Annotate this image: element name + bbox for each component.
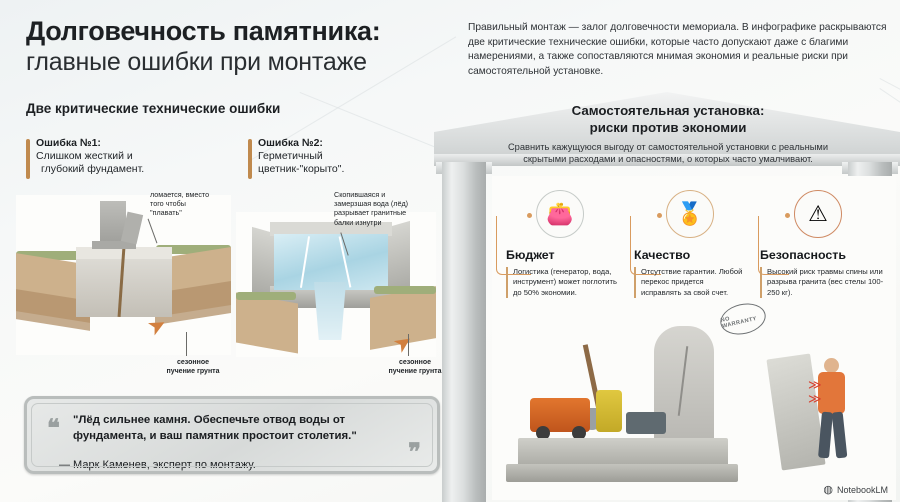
worker-figure-legs [818,412,833,459]
error-2-caption-leader [408,334,409,356]
grass-layer-right [374,286,436,294]
injury-warning-icon: ⚠ [794,190,842,238]
error-1-caption-leader [186,332,187,356]
infographic-page: Долговечность памятника: главные ошибки … [0,0,900,502]
connector-dot-budget [527,213,532,218]
panel-heading-line2: риски против экономии [494,120,842,137]
section-heading-errors: Две критические технические ошибки [26,101,280,116]
footer-brand-label: NotebookLM [837,485,888,495]
quote-author: — Марк Каменев, эксперт по монтажу. [59,459,256,471]
broken-award-icon: 🏅 [666,190,714,238]
page-title-line1: Долговечность памятника: [26,16,380,47]
intro-paragraph: Правильный монтаж — залог долговечности … [468,21,888,79]
wallet-money-icon: 👛 [536,190,584,238]
expert-quote-card: ❝ "Лёд сильнее камня. Обеспечьте отвод в… [24,396,440,474]
panel-body: 👛 🏅 ⚠ Бюджет Логистика (генератор, вода,… [492,176,896,500]
injury-warning-glyph: ⚠ [808,203,828,225]
worker-figure-body [818,372,845,414]
toolbox [626,412,666,434]
error-1-label: Ошибка №1: [36,137,144,150]
error-1-caption: сезонное пучение грунта [148,358,238,376]
notebooklm-logo-icon: ◍ [823,483,833,496]
risk-card-safety-title: Безопасность [760,248,884,262]
ice-water-pool [274,234,388,290]
worker-figure-head [824,358,839,373]
error-1-text-line2: глубокий фундамент. [36,163,144,176]
quote-open-mark: ❝ [47,417,60,441]
error-2-text-line2: цветник-"корыто". [258,163,344,176]
error-1-caption-line1: сезонное [177,359,209,366]
error-2-text-line1: Герметичный [258,150,344,163]
panel-subheading: Сравнить кажущуюся выгоду от самостоятел… [494,141,842,166]
error-1-illustration: ➤ [16,195,231,355]
carried-granite-slab [766,353,825,470]
error-2-label: Ошибка №2: [258,137,344,150]
soil-block-left [236,293,298,354]
connector-dot-quality [657,213,662,218]
grass-layer-left [236,292,296,300]
water-canister [596,390,622,432]
risk-card-safety-text: Высокий риск травмы спины или разрыва гр… [760,267,884,298]
footer-brand: ◍ NotebookLM [823,483,888,496]
risk-card-safety: Безопасность Высокий риск травмы спины и… [760,248,884,298]
no-warranty-stamp: NO WARRANTY [717,299,769,339]
diy-risks-panel: Самостоятельная установка: риски против … [434,92,900,502]
wallet-money-glyph: 👛 [546,203,573,225]
page-title-line2: главные ошибки при монтаже [26,48,367,77]
granite-tombstone [654,326,714,454]
monument-slab-base-2 [506,464,738,482]
error-2-caption-line1: сезонное [399,359,431,366]
connector-dot-safety [785,213,790,218]
quote-text: "Лёд сильнее камня. Обеспечьте отвод вод… [73,412,421,444]
pain-indicator-icon: ≫ [808,378,822,391]
panel-heading-line1: Самостоятельная установка: [494,103,842,120]
error-2-annotation: Скопившаяся и замерзшая вода (лёд) разры… [334,190,434,227]
risk-card-budget-title: Бюджет [506,248,618,262]
error-1-label-block: Ошибка №1: Слишком жесткий и глубокий фу… [26,137,144,176]
broken-award-glyph: 🏅 [676,203,703,225]
quote-close-mark: ❞ [408,441,421,465]
panel-heading-block: Самостоятельная установка: риски против … [494,103,842,166]
error-1-text-line1: Слишком жесткий и [36,150,144,163]
error-2-label-block: Ошибка №2: Герметичный цветник-"корыто". [248,137,344,176]
risk-card-budget: Бюджет Логистика (генератор, вода, инстр… [506,248,618,298]
risk-card-quality-title: Качество [634,248,746,262]
risk-card-budget-text: Логистика (генератор, вода, инструмент) … [506,267,618,298]
worker-figure-legs [832,412,848,459]
column-left [442,162,486,502]
pain-indicator-icon: ≫ [808,392,822,405]
risk-card-quality: Качество Отсутствие гарантии. Любой пере… [634,248,746,298]
risk-card-quality-text: Отсутствие гарантии. Любой перекос приде… [634,267,746,298]
error-1-annotation: ломается, вместо того чтобы "плавать" [150,190,235,218]
error-1-caption-line2: пучение грунта [167,368,220,375]
error-2-illustration: ➤ [236,212,436,357]
